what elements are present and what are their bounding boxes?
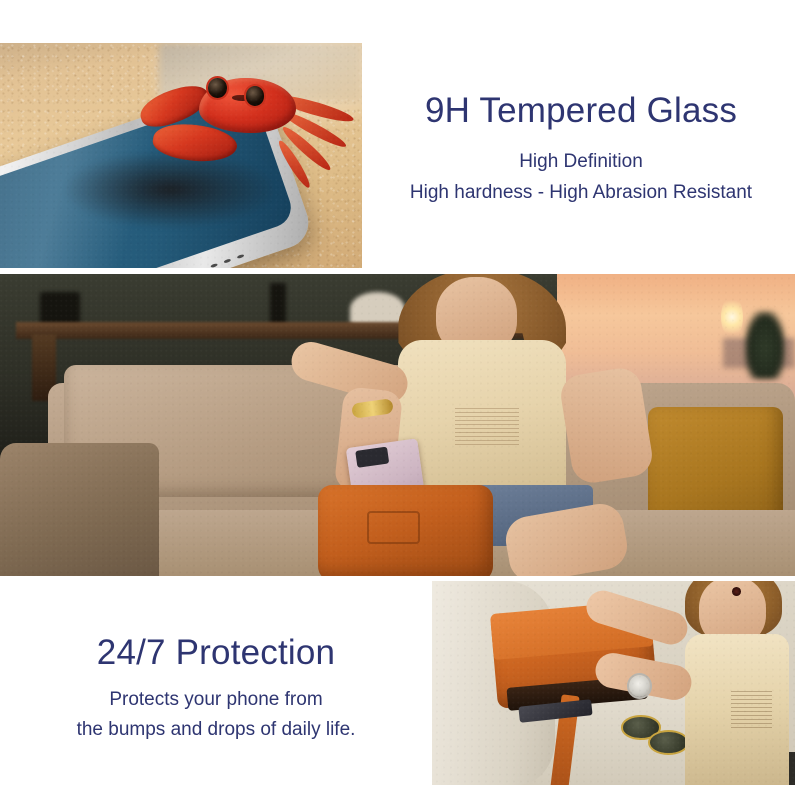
top-subline-2: High hardness - High Abrasion Resistant bbox=[362, 180, 800, 206]
bottom-headline: 24/7 Protection bbox=[0, 634, 432, 673]
tree-silhouette bbox=[745, 311, 786, 378]
product-banner: 9H Tempered Glass High Definition High h… bbox=[0, 0, 800, 800]
tank-top-printed-text bbox=[455, 408, 519, 445]
woman-tank-top bbox=[685, 634, 789, 785]
woman-figure-surprised bbox=[635, 581, 795, 785]
orange-leather-handbag bbox=[318, 485, 493, 576]
crab bbox=[145, 59, 355, 221]
setting-sun bbox=[721, 296, 742, 337]
woman-right-arm bbox=[558, 365, 655, 485]
bottom-subline-2: the bumps and drops of daily life. bbox=[0, 717, 432, 743]
top-copy-block: 9H Tempered Glass High Definition High h… bbox=[362, 92, 800, 206]
woman-placing-phone-in-bag-image bbox=[0, 274, 795, 576]
woman-dropping-bag-image bbox=[432, 581, 795, 785]
crab-eye bbox=[208, 78, 227, 97]
crab-eye bbox=[246, 86, 265, 105]
open-mouth bbox=[732, 587, 741, 596]
top-subline-1: High Definition bbox=[362, 149, 800, 175]
bottom-subline-1: Protects your phone from bbox=[0, 687, 432, 713]
crab-on-phone-image bbox=[0, 43, 362, 268]
woman-tank-top bbox=[398, 340, 566, 509]
bottom-copy-block: 24/7 Protection Protects your phone from… bbox=[0, 634, 432, 743]
top-headline: 9H Tempered Glass bbox=[362, 92, 800, 131]
sofa-armrest bbox=[0, 443, 159, 576]
tank-top-printed-text bbox=[731, 691, 772, 730]
